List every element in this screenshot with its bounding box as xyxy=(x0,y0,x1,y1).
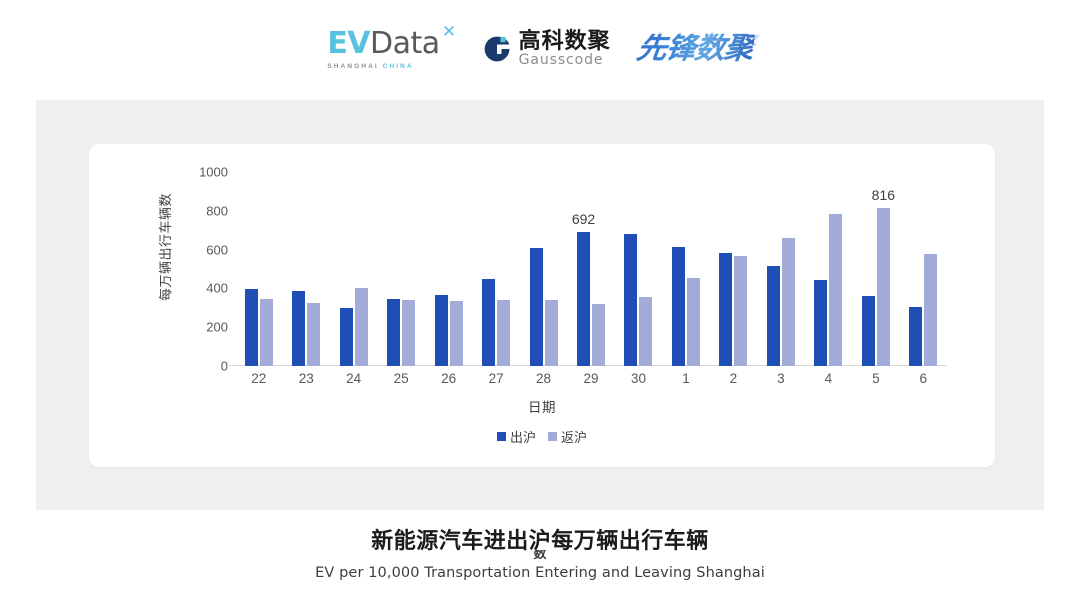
bar-group xyxy=(330,172,377,366)
x-tick-label: 4 xyxy=(805,371,852,386)
evdata-cross-icon: ✕ xyxy=(442,24,456,41)
bar-ret[interactable] xyxy=(497,300,510,366)
x-tick-label: 23 xyxy=(282,371,329,386)
bar-group xyxy=(282,172,329,366)
x-axis-title: 日期 xyxy=(89,396,995,416)
x-tick-label: 3 xyxy=(757,371,804,386)
legend-swatch xyxy=(548,432,557,441)
y-axis-title: 每万辆出行车辆数 xyxy=(155,172,169,322)
y-tick-label: 400 xyxy=(206,281,228,296)
gausscode-text-block: 高科数聚 Gausscode xyxy=(519,30,611,68)
y-axis-ticks: 02004006008001000 xyxy=(184,172,228,366)
bar-out[interactable] xyxy=(719,253,732,366)
legend-swatch xyxy=(497,432,506,441)
bar-group xyxy=(472,172,519,366)
bar-value-label: 816 xyxy=(872,187,895,203)
bar-out[interactable] xyxy=(435,295,448,366)
page-subtitle: EV per 10,000 Transportation Entering an… xyxy=(0,565,1080,581)
x-tick-label: 22 xyxy=(235,371,282,386)
bar-group xyxy=(662,172,709,366)
x-axis-tick-labels: 222324252627282930123456 xyxy=(235,371,947,386)
bar-out[interactable] xyxy=(340,308,353,366)
gausscode-en-name: Gausscode xyxy=(519,53,611,68)
evdata-tagline-city: SHANGHAI xyxy=(327,63,378,70)
bar-out[interactable] xyxy=(530,248,543,366)
legend-label: 返沪 xyxy=(561,427,587,446)
x-tick-label: 27 xyxy=(472,371,519,386)
x-tick-label: 6 xyxy=(900,371,947,386)
y-tick-label: 1000 xyxy=(199,165,228,180)
legend-item[interactable]: 返沪 xyxy=(548,427,587,446)
x-tick-label: 25 xyxy=(377,371,424,386)
footer-block: 新能源汽车进出沪每万辆出行车辆 数 EV per 10,000 Transpor… xyxy=(0,528,1080,581)
bar-ret[interactable] xyxy=(782,238,795,366)
logo-bar: EVData ✕ SHANGHAI CHINA 高科数聚 Gausscode 先… xyxy=(0,18,1080,80)
x-tick-label: 30 xyxy=(615,371,662,386)
bar-group xyxy=(615,172,662,366)
page-root: EVData ✕ SHANGHAI CHINA 高科数聚 Gausscode 先… xyxy=(0,0,1080,608)
bar-chart: 每万辆出行车辆数 02004006008001000 692816 222324… xyxy=(89,144,995,467)
evdata-logo: EVData ✕ SHANGHAI CHINA xyxy=(327,29,455,70)
evdata-wordmark: EVData ✕ xyxy=(327,29,439,59)
chart-legend: 出沪返沪 xyxy=(89,427,995,446)
legend-label: 出沪 xyxy=(510,427,536,446)
bar-out[interactable] xyxy=(245,289,258,366)
x-tick-label: 26 xyxy=(425,371,472,386)
gausscode-logo: 高科数聚 Gausscode xyxy=(482,30,611,68)
bar-group xyxy=(520,172,567,366)
x-tick-label: 24 xyxy=(330,371,377,386)
gausscode-cn-name: 高科数聚 xyxy=(519,30,611,53)
bar-ret[interactable] xyxy=(829,214,842,366)
plot-area: 692816 xyxy=(235,172,947,366)
bar-ret[interactable] xyxy=(450,301,463,366)
x-tick-label: 5 xyxy=(852,371,899,386)
bar-group: 692 xyxy=(567,172,614,366)
bar-out[interactable] xyxy=(292,291,305,366)
legend-item[interactable]: 出沪 xyxy=(497,427,536,446)
bar-ret[interactable] xyxy=(734,256,747,366)
y-tick-label: 200 xyxy=(206,320,228,335)
bar-ret[interactable] xyxy=(355,288,368,366)
x-tick-label: 2 xyxy=(710,371,757,386)
bar-ret[interactable] xyxy=(307,303,320,366)
x-tick-label: 28 xyxy=(520,371,567,386)
bar-group xyxy=(425,172,472,366)
bar-out[interactable] xyxy=(909,307,922,366)
bar-group xyxy=(805,172,852,366)
x-tick-label: 1 xyxy=(662,371,709,386)
evdata-ev-text: EV xyxy=(327,26,370,61)
bar-ret[interactable] xyxy=(402,300,415,366)
evdata-data-text: Data xyxy=(370,26,440,61)
bar-group: 816 xyxy=(852,172,899,366)
bar-out[interactable] xyxy=(767,266,780,366)
y-tick-label: 0 xyxy=(221,359,228,374)
bar-out[interactable] xyxy=(862,296,875,366)
bar-group xyxy=(710,172,757,366)
evdata-tagline: SHANGHAI CHINA xyxy=(327,63,413,70)
gausscode-g-mark-icon xyxy=(482,34,512,64)
bar-ret[interactable] xyxy=(924,254,937,366)
bar-ret[interactable] xyxy=(639,297,652,366)
bar-ret[interactable]: 816 xyxy=(877,208,890,366)
bar-ret[interactable] xyxy=(260,299,273,366)
bar-groups: 692816 xyxy=(235,172,947,366)
title-artifact: 数 xyxy=(533,550,546,559)
bar-out[interactable] xyxy=(814,280,827,366)
bar-ret[interactable] xyxy=(687,278,700,366)
bar-ret[interactable] xyxy=(545,300,558,366)
bar-out[interactable] xyxy=(672,247,685,366)
x-tick-label: 29 xyxy=(567,371,614,386)
bar-out[interactable] xyxy=(482,279,495,366)
bar-group xyxy=(900,172,947,366)
y-tick-label: 600 xyxy=(206,242,228,257)
evdata-tagline-country: CHINA xyxy=(383,63,414,70)
bar-out[interactable]: 692 xyxy=(577,232,590,366)
y-tick-label: 800 xyxy=(206,203,228,218)
chart-card: 每万辆出行车辆数 02004006008001000 692816 222324… xyxy=(89,144,995,467)
bar-group xyxy=(757,172,804,366)
bar-group xyxy=(235,172,282,366)
xianfeng-logo: 先锋数聚 xyxy=(635,34,755,64)
bar-group xyxy=(377,172,424,366)
bar-ret[interactable] xyxy=(592,304,605,366)
bar-out[interactable] xyxy=(624,234,637,366)
bar-value-label: 692 xyxy=(572,211,595,227)
bar-out[interactable] xyxy=(387,299,400,367)
